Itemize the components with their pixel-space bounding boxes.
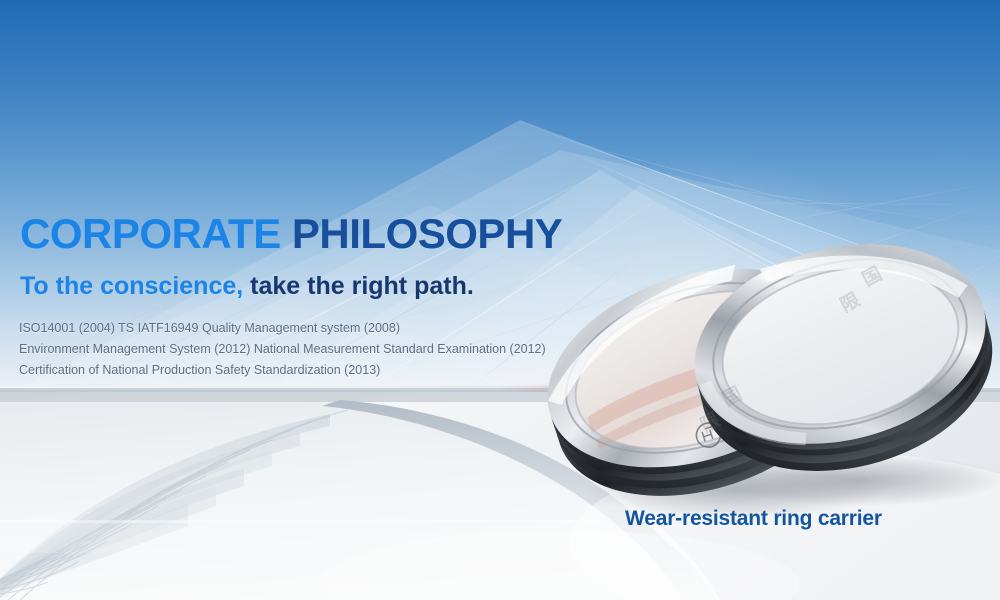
certification-line-3: Certification of National Production Saf… bbox=[19, 360, 546, 381]
certification-line-1: ISO14001 (2004) TS IATF16949 Quality Man… bbox=[19, 318, 546, 339]
certifications-list: ISO14001 (2004) TS IATF16949 Quality Man… bbox=[19, 318, 546, 381]
certification-line-2: Environment Management System (2012) Nat… bbox=[19, 339, 546, 360]
subheadline: To the conscience, take the right path. bbox=[20, 274, 474, 299]
product-caption: Wear-resistant ring carrier bbox=[625, 507, 882, 531]
corporate-philosophy-banner: 国 限 国 限 CORPORATE PHILOSOPHY To the cons… bbox=[0, 0, 1000, 600]
product-image-ring-carriers bbox=[520, 218, 1000, 548]
headline-word-philosophy: PHILOSOPHY bbox=[292, 210, 562, 257]
headline-word-corporate: CORPORATE bbox=[20, 210, 281, 257]
headline: CORPORATE PHILOSOPHY bbox=[20, 213, 562, 255]
subheadline-part-2: take the right path. bbox=[243, 272, 474, 300]
subheadline-part-1: To the conscience, bbox=[20, 272, 243, 300]
